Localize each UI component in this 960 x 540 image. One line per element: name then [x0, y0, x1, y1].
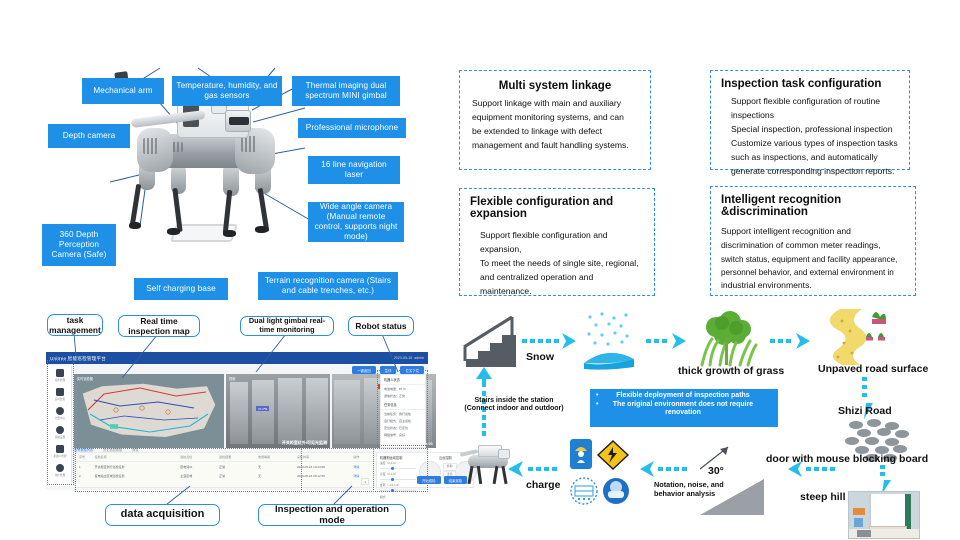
step-block — [857, 530, 871, 537]
callout-text: Inspection and operation mode — [264, 504, 400, 527]
caption-text: Stairs inside the station (Connect indoo… — [464, 397, 563, 412]
arrow-door-to-hill — [788, 461, 844, 477]
callout-data-acquisition[interactable]: data acquisition — [105, 504, 220, 526]
snow-icon — [582, 311, 638, 373]
stairs-icon — [460, 313, 522, 371]
high-voltage-warning-icon — [598, 441, 628, 469]
mini-leg — [501, 466, 507, 484]
mini-leg — [467, 466, 473, 484]
caption-behavior-analysis: Notation, noise, and behavior analysis — [654, 481, 730, 498]
angle-text: 30° — [708, 465, 724, 477]
arrow-grass-to-unpaved — [770, 333, 814, 349]
unpaved-road-icon — [816, 309, 896, 365]
behavior-icon-group — [570, 439, 650, 511]
caption-text: charge — [526, 479, 560, 491]
caption-stairs: Stairs inside the station (Connect indoo… — [460, 397, 568, 414]
caption-text: Unpaved road surface — [818, 363, 928, 375]
callout-text: Robot status — [355, 321, 406, 331]
arrow-stairs-to-snow — [522, 333, 578, 349]
caption-snow: Snow — [526, 351, 554, 363]
highlight-bullet: Flexible deployment of inspection paths — [594, 392, 772, 401]
caption-steep-hill: steep hill — [800, 491, 846, 503]
helmet-warning-icon — [570, 439, 592, 469]
callout-real-time-inspection-map[interactable]: Real time inspection map — [118, 315, 200, 337]
caption-text: Shizi Road — [838, 405, 892, 417]
wall-box — [854, 518, 863, 527]
robot-dog-icon — [456, 439, 520, 491]
caption-text: steep hill — [800, 491, 846, 503]
caption-unpaved-road: Unpaved road surface — [818, 363, 928, 375]
arrow-snow-to-grass — [646, 333, 690, 349]
callout-text: Dual light gimbal real-time monitoring — [246, 317, 328, 335]
highlight-bullet: The original environment does not requir… — [594, 401, 772, 418]
mini-head — [498, 449, 510, 459]
mini-leg — [477, 466, 482, 484]
mini-leg — [493, 466, 499, 484]
meter-reading-icon — [570, 477, 598, 505]
person-helmet-glyph — [573, 443, 589, 465]
wall-sign — [853, 508, 865, 515]
terrain-flow-section: Stairs inside the station (Connect indoo… — [450, 305, 960, 540]
mask-person-icon — [602, 477, 630, 505]
callout-text: Real time inspection map — [124, 316, 194, 336]
door-icon — [848, 491, 920, 539]
deployment-highlight-box[interactable]: Flexible deployment of inspection paths … — [590, 389, 778, 427]
caption-charge: charge — [526, 479, 560, 491]
highlight-list: Flexible deployment of inspection paths … — [594, 392, 772, 418]
caption-text: thick growth of grass — [678, 365, 784, 377]
grass-icon — [694, 311, 760, 367]
angle-label: 30° — [708, 465, 724, 477]
caption-shizi-road: Shizi Road — [838, 405, 892, 417]
arrow-charge-to-stairs — [480, 415, 490, 443]
callout-text: task management — [49, 315, 101, 335]
callout-task-management[interactable]: task management — [47, 314, 103, 336]
slide-canvas: Mechanical arm Temperature, humidity, an… — [0, 0, 960, 540]
callout-dual-light-gimbal[interactable]: Dual light gimbal real-time monitoring — [240, 316, 334, 336]
callout-robot-status[interactable]: Robot status — [348, 316, 414, 336]
caption-text: Snow — [526, 351, 554, 363]
callout-text: data acquisition — [121, 508, 205, 521]
caption-text: Notation, noise, and behavior analysis — [654, 480, 724, 498]
callout-inspection-operation-mode[interactable]: Inspection and operation mode — [258, 504, 406, 526]
caption-grass: thick growth of grass — [678, 365, 784, 377]
